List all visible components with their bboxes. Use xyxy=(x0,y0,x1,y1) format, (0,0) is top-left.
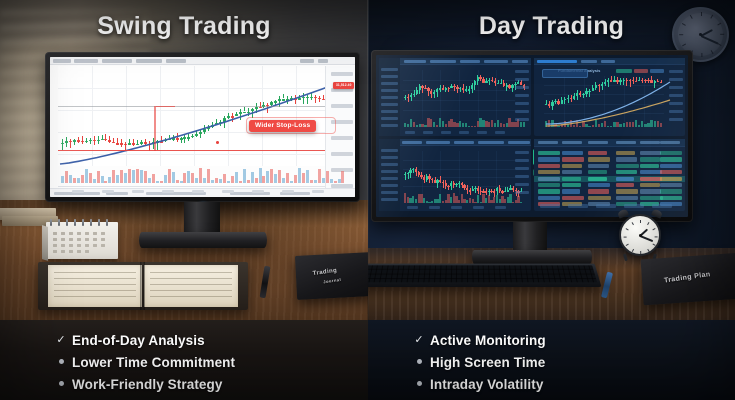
sidebar-row xyxy=(381,82,398,85)
monitor-stand-base-right xyxy=(472,250,592,264)
keyboard-keys[interactable] xyxy=(368,265,597,282)
volume-bar xyxy=(243,169,246,183)
table-cell xyxy=(538,151,560,155)
column-header xyxy=(616,141,636,144)
volume-bar xyxy=(286,173,289,183)
dot-icon xyxy=(50,357,72,367)
time-label xyxy=(495,131,505,134)
table-cell xyxy=(562,157,584,161)
volume-bar xyxy=(164,175,167,183)
table-cell xyxy=(660,157,682,161)
table-cell xyxy=(588,177,607,181)
table-cell xyxy=(640,177,662,181)
time-label xyxy=(451,206,462,209)
panel-tab xyxy=(601,60,615,63)
day-trading-monitor: Fundamental Analysis xyxy=(371,50,693,222)
panel-tab xyxy=(404,60,426,63)
time-label xyxy=(429,206,440,209)
check-icon: ✓ xyxy=(408,335,430,346)
table-cell xyxy=(616,183,634,187)
volume-bar xyxy=(81,175,84,183)
left-bullet-list: ✓End-of-Day AnalysisLower Time Commitmen… xyxy=(50,320,235,395)
table-cell xyxy=(562,196,584,200)
summary-chip xyxy=(652,204,672,208)
current-price-tag: 31,512.40 xyxy=(333,82,354,89)
table-cell xyxy=(616,170,637,174)
column-header xyxy=(588,141,608,144)
volume-bar xyxy=(148,178,151,183)
summary-chip xyxy=(596,204,616,208)
swing-monitor: 31,512.40 Wider Stop-Loss xyxy=(45,52,360,202)
time-axis xyxy=(58,186,325,187)
toolbar-item xyxy=(136,59,162,62)
table-cell xyxy=(538,196,560,200)
volume-bar xyxy=(203,178,206,183)
stop-loss-anchor-dot xyxy=(216,141,219,144)
calendar-rings xyxy=(46,219,118,226)
volume-bar xyxy=(294,175,297,183)
panel-tab xyxy=(537,60,577,63)
volume-bar xyxy=(211,180,214,183)
volume-bar xyxy=(97,171,100,183)
panel-sidebar xyxy=(379,139,400,211)
sidebar-row xyxy=(381,75,398,78)
volume-bar xyxy=(140,170,143,183)
axis-tick-label xyxy=(515,159,529,162)
sidebar-row xyxy=(381,89,398,92)
monitor-stand-neck-left xyxy=(184,202,220,234)
volume-bar xyxy=(160,181,163,183)
table-cell xyxy=(660,189,682,193)
entry-level xyxy=(156,106,175,107)
status-chip xyxy=(230,192,270,195)
table-cell xyxy=(562,183,581,187)
volume-bar xyxy=(338,179,341,183)
time-tick-label xyxy=(222,190,234,193)
column-header xyxy=(640,141,660,144)
legend-badge xyxy=(616,69,632,73)
sidebar-row xyxy=(381,177,398,180)
volume-bar xyxy=(330,179,333,183)
volume-group xyxy=(403,118,515,127)
volume-bar xyxy=(318,169,321,183)
axis-tick-label xyxy=(669,70,683,73)
bullets-bar: ✓End-of-Day AnalysisLower Time Commitmen… xyxy=(0,320,735,400)
bullet-item: ✓End-of-Day Analysis xyxy=(50,329,235,351)
volume-bar xyxy=(266,171,269,183)
time-tick-label xyxy=(312,190,324,193)
time-tick-label xyxy=(132,190,144,193)
bullet-item: Work-Friendly Strategy xyxy=(50,373,235,395)
dot-icon xyxy=(408,357,430,367)
time-label xyxy=(441,131,451,134)
axis-tick-label xyxy=(515,151,529,154)
volume-bar xyxy=(187,171,190,183)
swing-trading-screen[interactable]: 31,512.40 Wider Stop-Loss xyxy=(50,57,355,197)
sidebar-row xyxy=(381,68,398,71)
volume-bar xyxy=(326,171,329,183)
volume-bar xyxy=(262,176,265,183)
axis-tick-label xyxy=(515,70,529,73)
sidebar-row xyxy=(381,191,398,194)
time-tick-label xyxy=(72,190,84,193)
volume-bar xyxy=(104,181,107,183)
volume-bar xyxy=(314,180,317,183)
summary-chip xyxy=(540,204,560,208)
toolbar-item xyxy=(53,59,71,62)
volume-bar xyxy=(108,177,111,183)
sidebar-row xyxy=(381,198,398,201)
comparison-infographic: Swing Trading 31,512.40 Wider Stop-Loss xyxy=(0,0,735,400)
volume-bar xyxy=(120,170,123,183)
table-cell xyxy=(538,157,560,161)
price-tick-label xyxy=(331,72,353,76)
table-cell xyxy=(588,164,609,168)
panel-tab xyxy=(426,141,450,144)
table-cell xyxy=(538,164,560,168)
bullet-label: Lower Time Commitment xyxy=(72,355,235,370)
alarm-minute-hand xyxy=(640,235,654,242)
time-label xyxy=(423,131,433,134)
volume-histogram xyxy=(58,167,325,183)
volume-bar xyxy=(136,169,139,183)
table-cell xyxy=(538,183,560,187)
stop-loss-label: Wider Stop-Loss xyxy=(249,120,316,132)
volume-bar xyxy=(255,178,258,183)
table-cell xyxy=(588,151,607,155)
panel-header xyxy=(379,139,531,146)
panel-tab xyxy=(460,60,480,63)
bullet-item: High Screen Time xyxy=(408,351,546,373)
volume-bar xyxy=(128,169,131,183)
sidebar-row xyxy=(381,124,398,127)
volume-bar xyxy=(101,176,104,183)
table-cell xyxy=(640,170,662,174)
volume-bar xyxy=(112,170,115,183)
bullet-item: Intraday Volatility xyxy=(408,373,546,395)
table-cell xyxy=(640,164,659,168)
table-cell xyxy=(660,183,682,187)
keyboard[interactable] xyxy=(368,264,602,287)
volume-bar xyxy=(144,171,147,183)
right-bullet-list: ✓Active MonitoringHigh Screen TimeIntrad… xyxy=(408,320,546,395)
volume-bar xyxy=(172,172,175,183)
time-label xyxy=(407,206,418,209)
volume-bar xyxy=(207,169,210,183)
volume-bar xyxy=(523,122,525,127)
trading-journal: Trading Journal xyxy=(295,252,368,300)
volume-bar xyxy=(73,178,76,183)
panel-tab xyxy=(402,141,422,144)
table-cell xyxy=(562,170,582,174)
volume-bar xyxy=(191,173,194,183)
table-cell xyxy=(660,177,682,181)
table-cell xyxy=(616,177,634,181)
axis-tick-label xyxy=(515,183,529,186)
axis-tick-label xyxy=(515,167,529,170)
volume-bar xyxy=(116,175,119,183)
volume-bar xyxy=(247,180,250,183)
volume-bar xyxy=(85,169,88,183)
notebook-page-right xyxy=(144,265,238,307)
sidebar-row xyxy=(381,184,398,187)
panel-tab xyxy=(508,141,530,144)
time-tick-label xyxy=(252,190,264,193)
column-header xyxy=(562,141,582,144)
desk-calendar xyxy=(46,222,118,259)
left-title: Swing Trading xyxy=(0,12,368,41)
chart-overlays xyxy=(58,66,325,166)
monitor-stand-base-left xyxy=(139,232,267,248)
table-cell xyxy=(588,170,607,174)
bullet-item: ✓Active Monitoring xyxy=(408,329,546,351)
column-header xyxy=(538,141,558,144)
axis-tick-label xyxy=(515,78,529,81)
volume-bar xyxy=(520,202,522,203)
axis-tick-label xyxy=(515,102,529,105)
bullet-label: Active Monitoring xyxy=(430,333,546,348)
panel-price-chart[interactable] xyxy=(379,58,531,136)
table-cell xyxy=(538,189,560,193)
panel-tab xyxy=(512,60,528,63)
time-label xyxy=(473,206,484,209)
monitor-stand-neck-right xyxy=(513,222,547,252)
table-cell xyxy=(562,189,580,193)
sidebar-row xyxy=(381,117,398,120)
legend-badge xyxy=(634,69,648,73)
panel-tab xyxy=(484,60,508,63)
volume-bar xyxy=(77,178,80,183)
table-cell xyxy=(588,183,610,187)
trend-lines xyxy=(544,74,676,128)
bullet-label: Intraday Volatility xyxy=(430,377,543,392)
table-header xyxy=(534,139,685,147)
table-cell xyxy=(660,151,682,155)
axis-tick-label xyxy=(515,110,529,113)
stop-loss-level xyxy=(58,150,325,151)
volume-bar xyxy=(235,172,238,183)
check-icon: ✓ xyxy=(50,335,72,346)
volume-bar xyxy=(298,168,301,183)
volume-bar xyxy=(61,176,64,183)
panel-tab xyxy=(478,141,504,144)
table-cell xyxy=(640,189,661,193)
bullet-label: High Screen Time xyxy=(430,355,545,370)
open-notebook xyxy=(38,262,248,310)
alarm-clock-face xyxy=(619,214,661,256)
time-label xyxy=(495,206,506,209)
volume-bar xyxy=(195,178,198,183)
volume-bar xyxy=(322,178,325,183)
time-label xyxy=(477,131,487,134)
table-cell xyxy=(660,164,682,168)
volume-bar xyxy=(183,173,186,183)
volume-bar xyxy=(89,173,92,183)
candles-group xyxy=(403,151,515,195)
sidebar-row xyxy=(381,170,398,173)
table-cell xyxy=(616,164,639,168)
table-cell xyxy=(616,157,637,161)
sidebar-row xyxy=(381,96,398,99)
volume-bar xyxy=(132,170,135,183)
toolbar-item xyxy=(300,59,314,62)
toolbar-item xyxy=(318,59,328,62)
sidebar-row xyxy=(381,103,398,106)
bullet-label: Work-Friendly Strategy xyxy=(72,377,222,392)
volume-bar xyxy=(290,181,293,183)
volume-bar xyxy=(274,174,277,183)
volume-bar xyxy=(124,173,127,183)
table-cell xyxy=(562,164,582,168)
column-header xyxy=(660,141,680,144)
volume-bar xyxy=(231,176,234,183)
panel-advanced-chart[interactable]: Fundamental Analysis xyxy=(534,58,685,136)
volume-bar xyxy=(69,175,72,183)
volume-bar xyxy=(251,172,254,183)
table-cell xyxy=(588,196,611,200)
legend-badge xyxy=(650,69,664,73)
volume-bar xyxy=(65,171,68,183)
panel-header xyxy=(534,58,685,65)
volume-bar xyxy=(341,171,344,183)
time-tick-label xyxy=(102,190,114,193)
table-cell xyxy=(640,183,660,187)
sidebar-row xyxy=(381,156,398,159)
volume-bar xyxy=(310,180,313,183)
table-cell xyxy=(616,151,635,155)
volume-bar xyxy=(180,181,183,183)
toolbar-item xyxy=(102,59,132,62)
table-cell xyxy=(562,177,581,181)
table-cell xyxy=(562,151,583,155)
table-cell xyxy=(588,189,609,193)
sidebar-row xyxy=(381,110,398,113)
table-cell xyxy=(616,189,638,193)
table-cell xyxy=(640,151,661,155)
table-cell xyxy=(538,177,560,181)
panel-header xyxy=(379,58,531,65)
toolbar-item xyxy=(166,59,186,62)
axis-tick-label xyxy=(515,94,529,97)
time-tick-label xyxy=(192,190,204,193)
journal-cover xyxy=(295,252,368,300)
panel-divider xyxy=(367,0,369,320)
notebook-page-left xyxy=(48,265,142,307)
volume-bar xyxy=(227,181,230,183)
table-cell xyxy=(660,170,682,174)
candlestick xyxy=(520,151,522,195)
toolbar-item xyxy=(74,59,98,62)
volume-bar xyxy=(306,170,309,183)
sidebar-row xyxy=(381,149,398,152)
time-tick-label xyxy=(162,190,174,193)
volume-bar xyxy=(199,168,202,183)
volume-bar xyxy=(270,169,273,183)
axis-tick-label xyxy=(515,191,529,194)
summary-chip xyxy=(568,204,588,208)
panel-sidebar xyxy=(379,58,400,136)
volume-bar xyxy=(152,174,155,183)
dot-icon xyxy=(50,379,72,389)
panel-tab xyxy=(581,60,597,63)
right-bullets-bg: ✓Active MonitoringHigh Screen TimeIntrad… xyxy=(368,320,735,400)
time-tick-label xyxy=(282,190,294,193)
table-cell xyxy=(538,170,560,174)
bullet-item: Lower Time Commitment xyxy=(50,351,235,373)
volume-bar xyxy=(259,168,262,183)
trading-plan-notebook: Trading Plan xyxy=(641,253,735,306)
panel-orders-table[interactable] xyxy=(534,139,685,211)
time-label xyxy=(405,131,415,134)
table-cell xyxy=(640,157,660,161)
risk-span xyxy=(154,106,156,151)
resistance-level xyxy=(58,106,325,107)
volume-bar xyxy=(278,170,281,183)
volume-bar xyxy=(156,181,159,183)
dot-icon xyxy=(408,379,430,389)
volume-bar xyxy=(302,173,305,183)
price-tick-label xyxy=(331,136,353,140)
price-tick-label xyxy=(331,104,353,108)
price-tick-label xyxy=(331,152,353,156)
volume-bar xyxy=(93,179,96,183)
axis-tick-label xyxy=(515,118,529,121)
axis-tick-label xyxy=(515,175,529,178)
volume-bar xyxy=(176,180,179,183)
notebook-spine xyxy=(140,262,145,310)
panel-tab xyxy=(430,60,456,63)
volume-bar xyxy=(282,178,285,183)
bullet-label: End-of-Day Analysis xyxy=(72,333,205,348)
volume-bar xyxy=(219,179,222,183)
panel-tab xyxy=(454,141,474,144)
volume-bar xyxy=(239,181,242,183)
volume-bar xyxy=(215,178,218,183)
volume-group xyxy=(403,193,515,203)
table-cell xyxy=(660,196,682,200)
candles-group xyxy=(403,70,515,120)
alarm-clock xyxy=(619,214,661,256)
volume-bar xyxy=(223,174,226,183)
volume-bar xyxy=(168,169,171,183)
panel-scalping-chart[interactable] xyxy=(379,139,531,211)
table-cell xyxy=(616,196,638,200)
table-cell xyxy=(588,157,610,161)
axis-tick-label xyxy=(515,86,529,89)
time-label xyxy=(459,131,469,134)
summary-chip xyxy=(624,204,644,208)
volume-bar xyxy=(334,181,337,183)
chart-toolbar[interactable] xyxy=(50,57,355,65)
left-bullets-bg: ✓End-of-Day AnalysisLower Time Commitmen… xyxy=(0,320,368,400)
sidebar-row xyxy=(381,163,398,166)
day-trading-screen[interactable]: Fundamental Analysis xyxy=(376,55,688,217)
